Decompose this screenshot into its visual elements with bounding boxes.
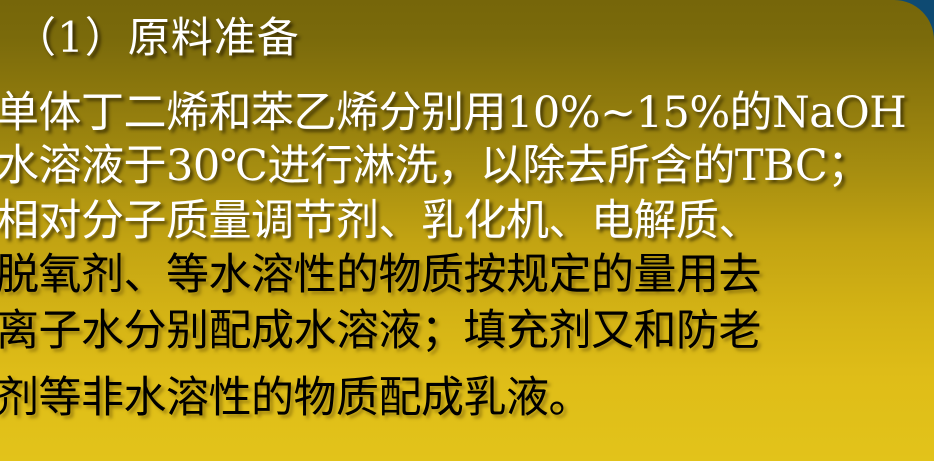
presentation-slide: （1）原料准备 单体丁二烯和苯乙烯分别用10%~15%的NaOH 水溶液于30℃…: [0, 0, 934, 461]
body-line-5: 离子水分别配成水溶液；填充剂又和防老: [0, 310, 761, 353]
body-line-2: 水溶液于30℃进行淋洗，以除去所含的TBC；: [0, 145, 870, 188]
body-line-4: 脱氧剂、等水溶性的物质按规定的量用去: [0, 254, 761, 297]
slide-heading: （1）原料准备: [14, 17, 300, 59]
body-line-1: 单体丁二烯和苯乙烯分别用10%~15%的NaOH: [0, 92, 906, 135]
body-line-3: 相对分子质量调节剂、乳化机、电解质、: [0, 200, 761, 243]
body-line-6: 剂等非水溶性的物质配成乳液。: [0, 377, 591, 420]
slide-content: （1）原料准备 单体丁二烯和苯乙烯分别用10%~15%的NaOH 水溶液于30℃…: [0, 0, 934, 461]
